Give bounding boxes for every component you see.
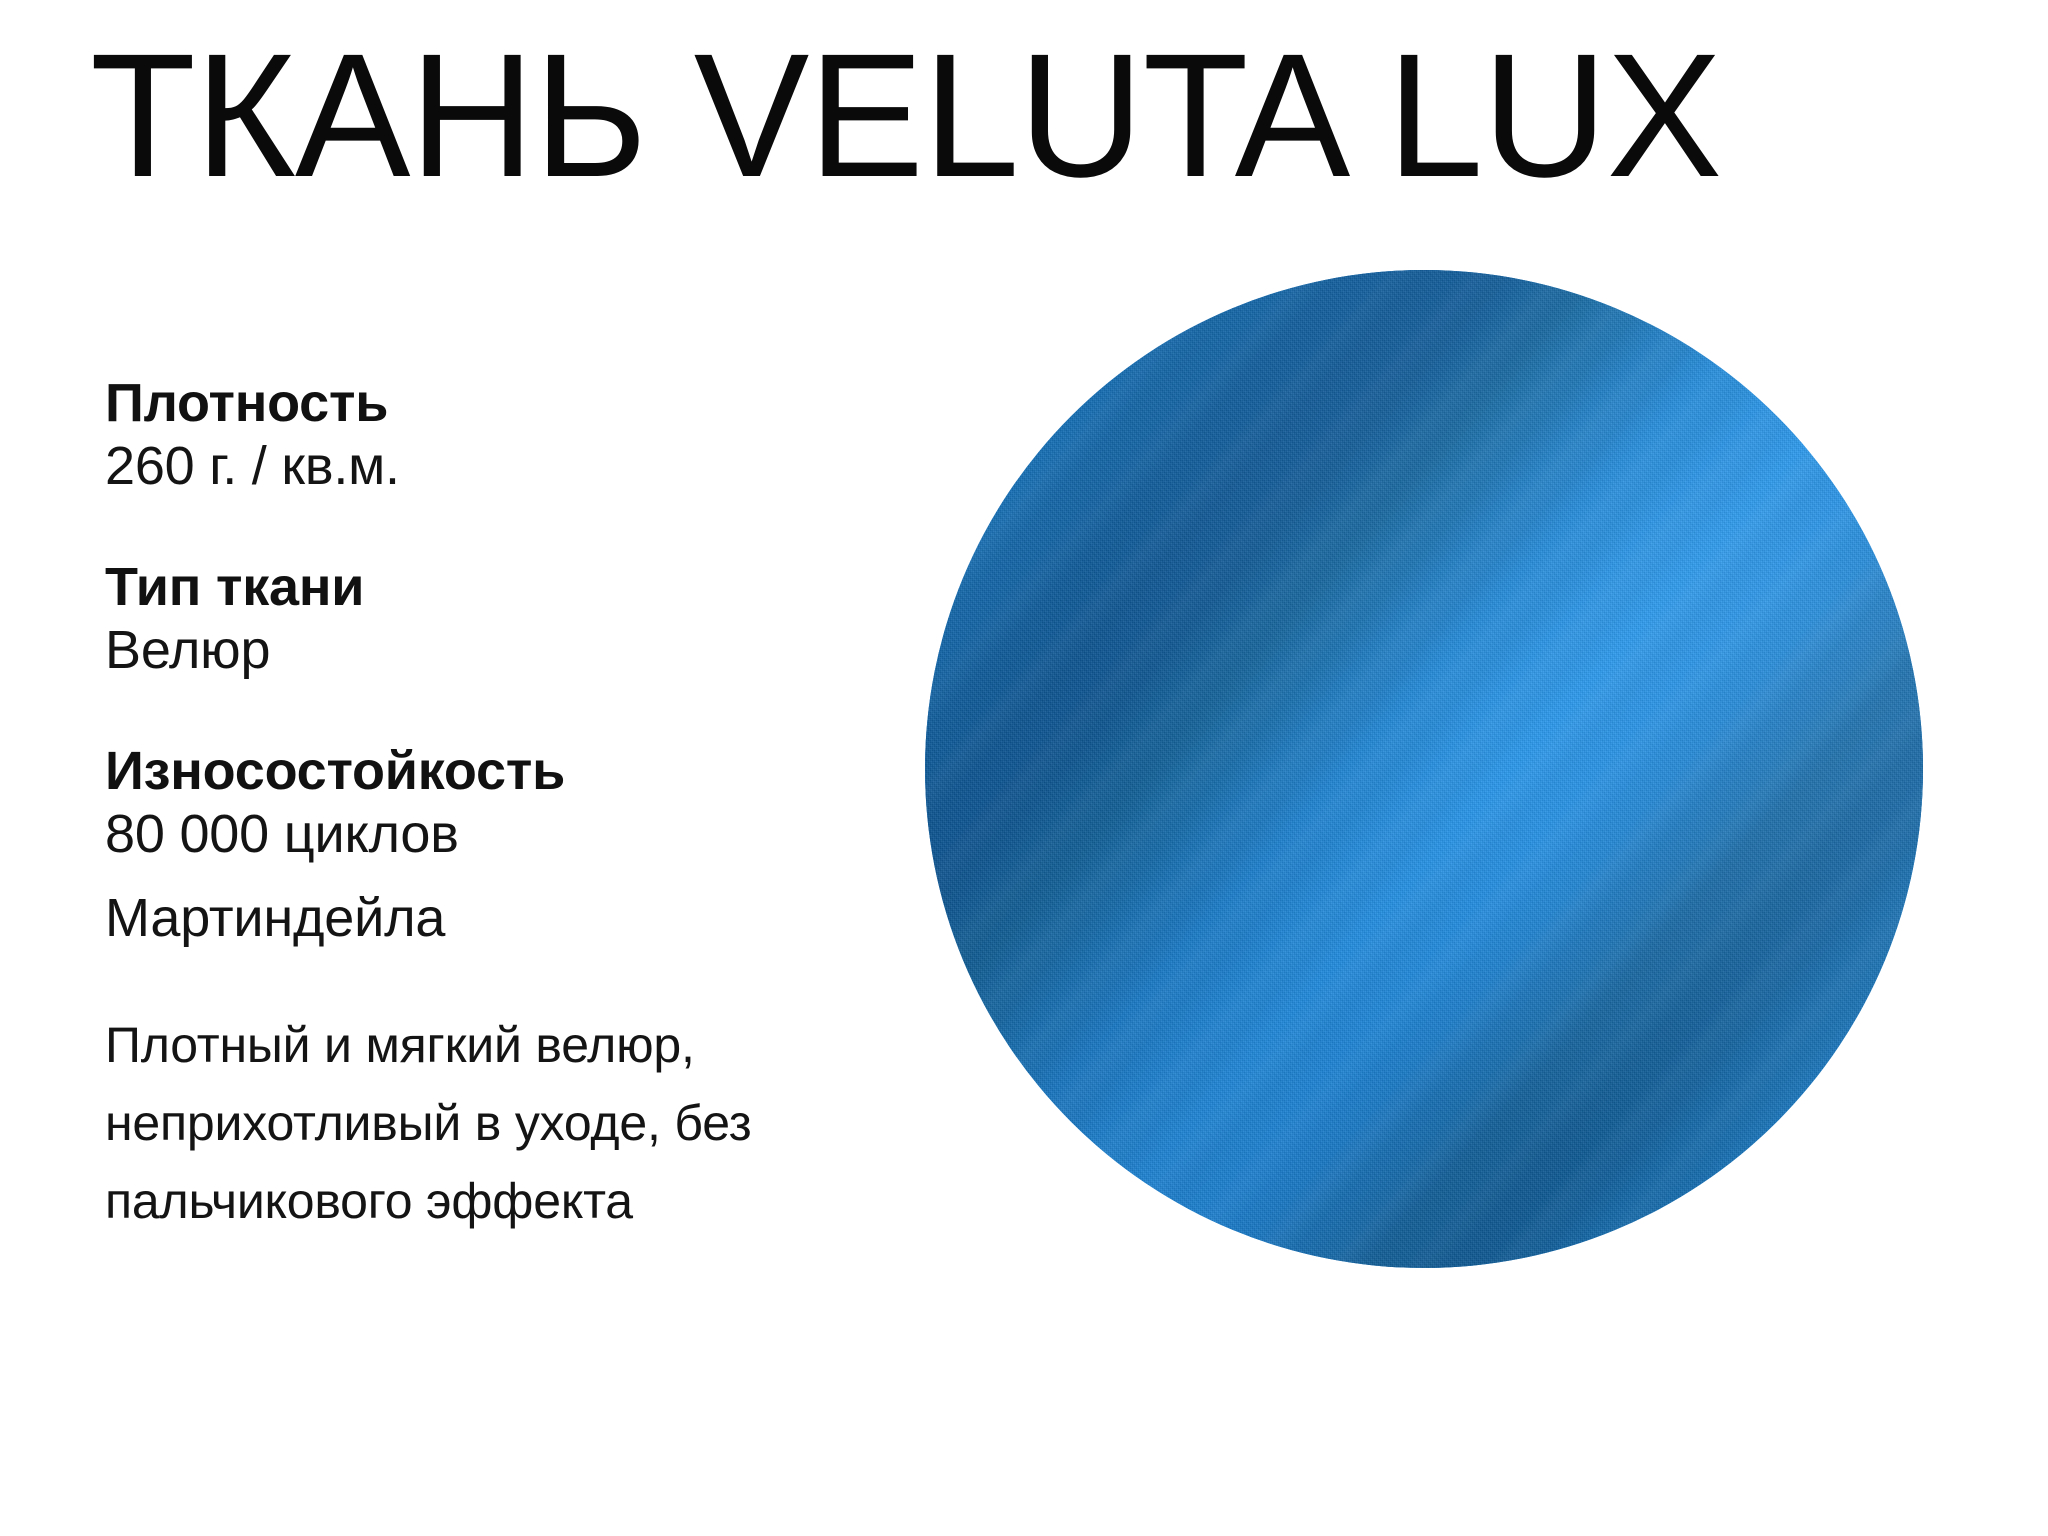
spec-value-density: 260 г. / кв.м.	[105, 434, 805, 498]
fabric-spec-card: ТКАНЬ VELUTA LUX Плотность 260 г. / кв.м…	[0, 0, 2048, 1536]
spec-value-fabric-type: Велюр	[105, 618, 805, 682]
spec-item-fabric-type: Тип ткани Велюр	[105, 556, 805, 682]
spec-label-density: Плотность	[105, 372, 805, 434]
spec-value-abrasion-resistance: 80 000 циклов	[105, 802, 805, 866]
spec-item-abrasion-resistance: Износостойкость 80 000 циклов Мартиндейл…	[105, 740, 805, 950]
spec-item-density: Плотность 260 г. / кв.м.	[105, 372, 805, 498]
spec-label-abrasion-resistance: Износостойкость	[105, 740, 805, 802]
page-title: ТКАНЬ VELUTA LUX	[90, 28, 1942, 204]
specs-list: Плотность 260 г. / кв.м. Тип ткани Велюр…	[105, 372, 805, 950]
spec-label-fabric-type: Тип ткани	[105, 556, 805, 618]
fabric-vignette-layer	[925, 270, 1923, 1268]
fabric-description: Плотный и мягкий велюр, неприхотливый в …	[105, 1006, 925, 1240]
spec-value-abrasion-resistance-unit: Мартиндейла	[105, 886, 805, 950]
fabric-swatch-image	[925, 270, 1923, 1268]
